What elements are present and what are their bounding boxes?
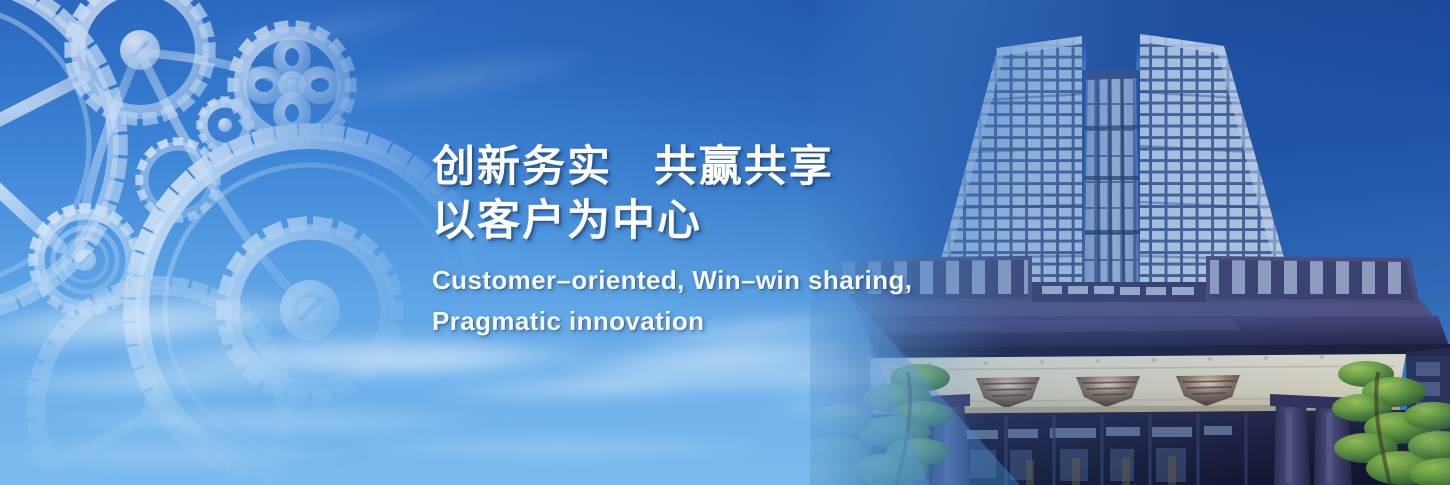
banner-copy: 创新务实 共赢共享 以客户为中心 Customer–oriented, Win–… <box>432 140 992 342</box>
tagline-line-1: Customer–oriented, Win–win sharing, <box>432 260 992 301</box>
tagline-line-2: Pragmatic innovation <box>432 301 992 342</box>
tagline-block: Customer–oriented, Win–win sharing, Prag… <box>432 260 992 342</box>
hero-banner: 创新务实 共赢共享 以客户为中心 Customer–oriented, Win–… <box>0 0 1450 485</box>
headline-line-1: 创新务实 共赢共享 <box>432 140 992 194</box>
headline-line-2: 以客户为中心 <box>432 194 992 248</box>
